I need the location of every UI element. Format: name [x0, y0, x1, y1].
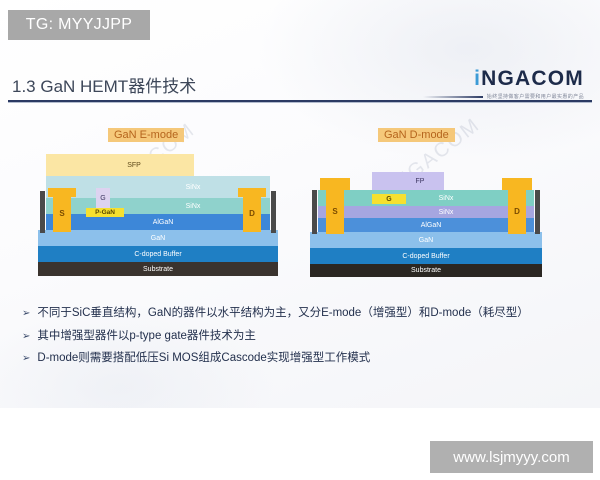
layer-c-doped-buffer-d: C-doped Buffer [310, 248, 542, 264]
layer-label: SiNx [186, 184, 201, 191]
layer-label: Substrate [143, 266, 173, 273]
isolation-bar-right-e [271, 191, 276, 233]
electrode-source-body-e: S [53, 194, 71, 232]
electrode-drain-body-e: D [243, 194, 261, 232]
slide-canvas: INGACOM INGACOM INGACOM INGACOM TG: MYYJ… [0, 0, 600, 408]
site-watermark: www.lsjmyyy.com [430, 441, 593, 473]
isolation-bar-left-d [312, 190, 317, 234]
bullet-text: 其中增强型器件以p-type gate器件技术为主 [37, 329, 256, 345]
page-title: 1.3 GaN HEMT器件技术 [12, 72, 196, 97]
layer-label: GaN [419, 237, 433, 244]
electrode-source-body-d: S [326, 188, 344, 234]
device-cross-section-d-mode: FP SiNx SiNx AlGaN GaN C-doped Buff [310, 172, 560, 276]
bullet-item: ➢ D-mode则需要搭配低压Si MOS组成Cascode实现增强型工作模式 [22, 351, 582, 367]
brand-rule [423, 96, 483, 98]
layer-sinx-top-d: SiNx [318, 190, 534, 206]
tg-banner: TG: MYYJJPP [8, 10, 150, 40]
layer-algan-e: AlGaN [46, 214, 270, 230]
badge-gan-d-mode: GaN D-mode [378, 128, 455, 142]
layer-substrate-e: Substrate [38, 262, 278, 276]
brand-name: NGACOM [481, 67, 584, 90]
electrode-drain-label: D [514, 207, 520, 216]
site-watermark-label: www.lsjmyyy.com [453, 449, 569, 466]
electrode-source-label: S [59, 209, 64, 218]
layer-label: AlGaN [421, 222, 442, 229]
bullet-arrow-icon: ➢ [22, 306, 30, 321]
brand-tagline: 始终坚持做客户需要和用户最实惠的产品 [487, 93, 584, 100]
gate-layer-pgan-e: P-GaN [86, 208, 124, 217]
bullet-list: ➢ 不同于SiC垂直结构，GaN的器件以水平结构为主，又分E-mode（增强型）… [22, 306, 582, 374]
layer-gan-e: GaN [38, 230, 278, 246]
electrode-drain-label: D [249, 209, 255, 218]
badge-gan-e-mode: GaN E-mode [108, 128, 184, 142]
layer-sinx-top-e: SiNx [46, 176, 270, 198]
title-divider-soft [8, 102, 592, 103]
layer-label: C-doped Buffer [402, 253, 449, 260]
layer-sinx-second-e: SiNx [46, 198, 270, 214]
layer-label: GaN [151, 235, 165, 242]
bullet-arrow-icon: ➢ [22, 351, 30, 366]
layer-label: AlGaN [153, 219, 174, 226]
figure-gan-e-mode: GaN E-mode SFP SiNx SiNx AlGaN GaN [38, 128, 290, 278]
electrode-gate-label: G [386, 196, 391, 203]
layer-c-doped-buffer-e: C-doped Buffer [38, 246, 278, 262]
layer-gan-d: GaN [310, 232, 542, 248]
brand-wordmark: iNGACOM [423, 68, 584, 89]
isolation-bar-right-d [535, 190, 540, 234]
layer-sinx-second-d: SiNx [318, 206, 534, 218]
layer-substrate-d: Substrate [310, 264, 542, 277]
field-plate-fp-label: FP [416, 178, 425, 185]
electrode-drain-body-d: D [508, 188, 526, 234]
field-plate-fp: FP [372, 172, 444, 190]
brand-logo: iNGACOM 始终坚持做客户需要和用户最实惠的产品 [423, 68, 584, 100]
layer-label: Substrate [411, 267, 441, 274]
brand-tagline-row: 始终坚持做客户需要和用户最实惠的产品 [423, 93, 584, 100]
figure-gan-d-mode: GaN D-mode FP SiNx SiNx AlGaN GaN [310, 128, 560, 278]
field-plate-sfp-label: SFP [127, 162, 141, 169]
bullet-text: 不同于SiC垂直结构，GaN的器件以水平结构为主，又分E-mode（增强型）和D… [37, 306, 528, 322]
tg-banner-label: TG: MYYJJPP [26, 16, 132, 34]
isolation-bar-left-e [40, 191, 45, 233]
layer-label: SiNx [439, 209, 454, 216]
bullet-arrow-icon: ➢ [22, 329, 30, 344]
field-plate-sfp: SFP [46, 154, 194, 176]
layer-label: SiNx [186, 203, 201, 210]
device-cross-section-e-mode: SFP SiNx SiNx AlGaN GaN C-doped Buf [38, 154, 290, 276]
electrode-gate-label: G [100, 195, 105, 202]
layer-label: C-doped Buffer [134, 251, 181, 258]
electrode-gate-d: G [372, 194, 406, 204]
gate-stem-e: G [96, 188, 110, 208]
electrode-source-label: S [332, 207, 337, 216]
bullet-item: ➢ 其中增强型器件以p-type gate器件技术为主 [22, 329, 582, 345]
layer-algan-d: AlGaN [318, 218, 534, 232]
gate-layer-label: P-GaN [95, 209, 115, 216]
layer-label: SiNx [439, 195, 454, 202]
bullet-item: ➢ 不同于SiC垂直结构，GaN的器件以水平结构为主，又分E-mode（增强型）… [22, 306, 582, 322]
bullet-text: D-mode则需要搭配低压Si MOS组成Cascode实现增强型工作模式 [37, 351, 370, 367]
